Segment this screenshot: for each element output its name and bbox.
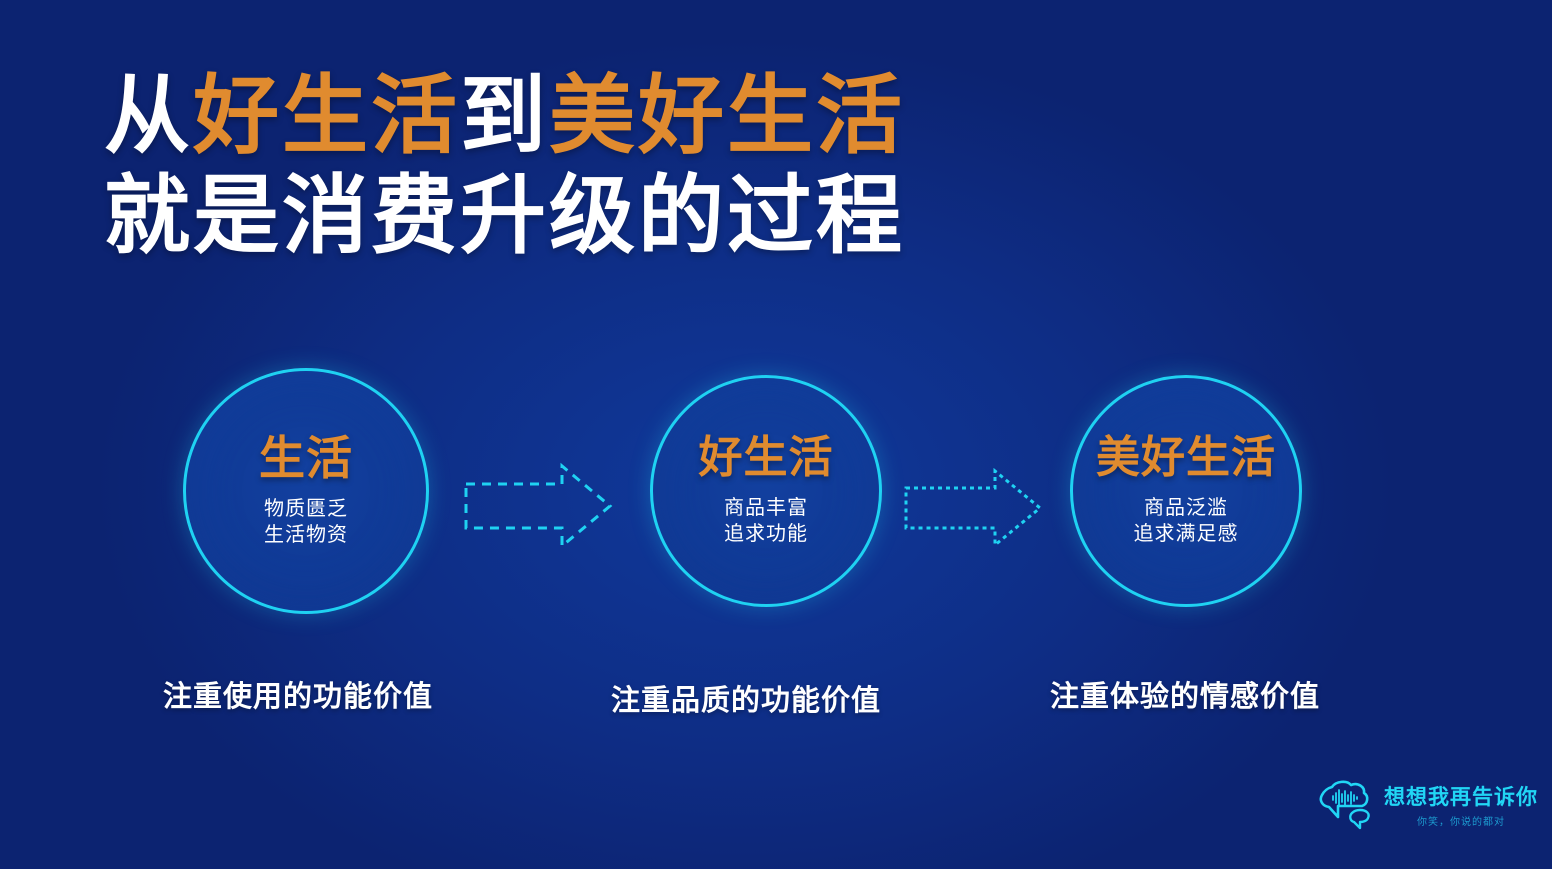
stage-circle-2: 好生活 商品丰富 追求功能 xyxy=(650,375,882,607)
stage-1-sub-line-1: 物质匮乏 xyxy=(264,496,348,522)
stage-2-caption: 注重品质的功能价值 xyxy=(611,677,881,719)
arrow-stage-2-to-3 xyxy=(903,468,1043,548)
stage-1-sub-line-2: 生活物资 xyxy=(264,522,348,548)
stage-3-caption: 注重体验的情感价值 xyxy=(1050,673,1320,715)
arrow-stage-1-to-2 xyxy=(462,462,614,550)
brand-logo: 想想我再告诉你 你笑，你说的都对 xyxy=(1316,776,1528,838)
stage-3-subtext: 商品泛滥 追求满足感 xyxy=(1134,495,1239,547)
stage-3-sub-line-2: 追求满足感 xyxy=(1134,521,1239,547)
logo-text-block: 想想我再告诉你 你笑，你说的都对 xyxy=(1384,786,1538,828)
stage-3-sub-line-1: 商品泛滥 xyxy=(1134,495,1239,521)
stage-2-heading: 好生活 xyxy=(699,435,834,481)
slide-canvas: 从好生活到美好生活 就是消费升级的过程 生活 物质匮乏 生活物资 好生活 商品丰… xyxy=(0,0,1552,869)
stage-circle-3: 美好生活 商品泛滥 追求满足感 xyxy=(1070,375,1302,607)
stage-1-subtext: 物质匮乏 生活物资 xyxy=(264,496,348,548)
logo-name: 想想我再告诉你 xyxy=(1384,786,1538,810)
stage-1-caption: 注重使用的功能价值 xyxy=(163,673,433,715)
logo-tagline: 你笑，你说的都对 xyxy=(1417,813,1505,828)
stage-2-subtext: 商品丰富 追求功能 xyxy=(724,495,808,547)
stage-1-heading: 生活 xyxy=(259,434,353,482)
speech-bubble-waveform-icon xyxy=(1316,779,1378,835)
stage-3-heading: 美好生活 xyxy=(1096,435,1276,481)
stage-2-sub-line-1: 商品丰富 xyxy=(724,495,808,521)
stage-2-sub-line-2: 追求功能 xyxy=(724,521,808,547)
dashed-right-arrow-icon xyxy=(462,462,614,550)
stage-circle-1: 生活 物质匮乏 生活物资 xyxy=(183,368,429,614)
consumption-upgrade-diagram: 生活 物质匮乏 生活物资 好生活 商品丰富 追求功能 xyxy=(0,0,1552,869)
dashed-right-arrow-icon xyxy=(903,468,1043,548)
